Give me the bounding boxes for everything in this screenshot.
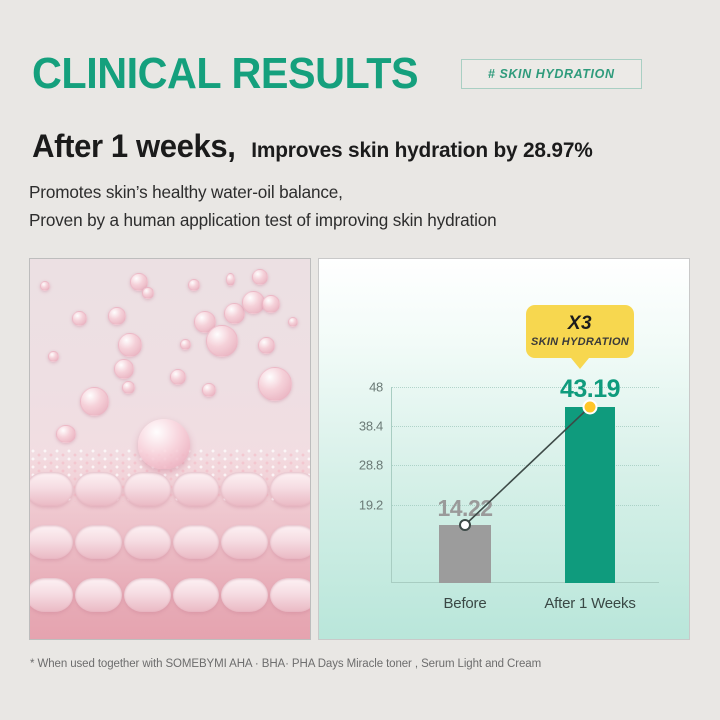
hashtag-badge-label: # SKIN HYDRATION [488,68,615,81]
bubble-icon [80,387,109,416]
bubble-icon [56,425,76,443]
footnote: * When used together with SOMEBYMI AHA ·… [30,658,541,670]
bubble-icon [288,317,298,327]
subheadline-strong: After 1 weeks, [32,128,235,165]
y-axis-tick-label: 48 [369,380,383,395]
bubble-icon [262,295,280,313]
bubble-icon [114,359,134,379]
header-row: CLINICAL RESULTS # SKIN HYDRATION [32,52,690,96]
bubble-icon [48,351,59,362]
page-title: CLINICAL RESULTS [32,52,418,96]
y-axis-tick-label: 19.2 [359,497,383,512]
y-axis-tick-label: 38.4 [359,419,383,434]
x-axis-label-after: After 1 Weeks [544,595,635,612]
bubble-icon [258,367,292,401]
trend-connector-line [391,387,659,583]
hashtag-badge: # SKIN HYDRATION [461,59,642,89]
subheadline: After 1 weeks, Improves skin hydration b… [29,128,598,165]
skin-illustration-panel [29,258,311,640]
bubble-icon [206,325,238,357]
bubble-icon [188,279,200,291]
bubble-icon [226,273,235,286]
x3-callout-multiplier: X3 [526,314,634,334]
x3-callout-badge: X3 SKIN HYDRATION [526,305,634,358]
x3-callout-caption: SKIN HYDRATION [526,336,634,348]
data-point-marker-before [459,519,471,531]
bubble-icon [180,339,191,350]
bubble-icon [202,383,216,397]
description-line-2: Proven by a human application test of im… [29,206,497,234]
description-line-1: Promotes skin’s healthy water-oil balanc… [29,178,497,206]
description: Promotes skin’s healthy water-oil balanc… [29,178,506,235]
bubble-icon [170,369,186,385]
x-axis-label-before: Before [444,595,487,612]
data-point-marker-after [583,399,598,414]
bubble-icon [252,269,268,285]
bubble-icon [40,281,50,291]
bubble-icon [72,311,87,326]
bubble-icon [142,287,154,299]
skin-cell-row [29,578,311,612]
bubble-icon [258,337,275,354]
skin-cell-row [29,525,311,559]
bubble-icon [118,333,142,357]
bar-chart-plot: 48 38.4 28.8 19.2 Before After 1 Weeks 1… [391,387,659,583]
y-axis-tick-label: 28.8 [359,458,383,473]
bubble-icon [108,307,126,325]
bubble-icon [122,381,135,394]
subheadline-rest: Improves skin hydration by 28.97% [251,138,592,163]
skin-cell-row [29,472,311,506]
large-water-droplet-icon [138,419,190,469]
chart-panel: X3 SKIN HYDRATION 48 38.4 28.8 19.2 Befo… [318,258,690,640]
